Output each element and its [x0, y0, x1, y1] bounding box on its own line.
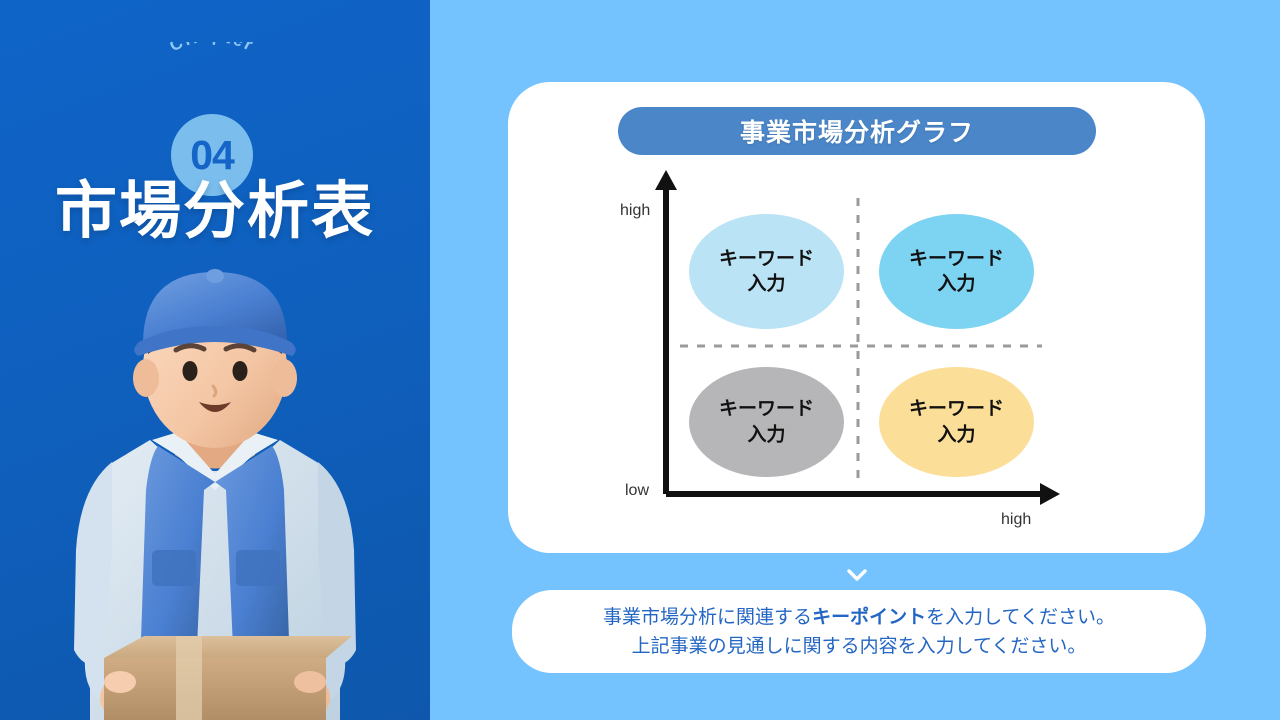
- quadrant-bubble-label-line2: 入力: [689, 272, 844, 298]
- caption-line-1-after: を入力してください。: [926, 606, 1115, 628]
- caption-line-1-before: 事業市場分析に関連する: [603, 606, 812, 628]
- quadrant-chart-axes: [508, 82, 1205, 553]
- caption-box: 事業市場分析に関連するキーポイントを入力してください。 上記事業の見通しに関する…: [512, 590, 1206, 673]
- quadrant-bubble-label-line2: 入力: [879, 272, 1034, 298]
- caption-keyword-strong: キーポイント: [812, 606, 926, 628]
- slide-root: CHapter 04 市場分析表: [0, 0, 1280, 720]
- y-axis-high-label: high: [620, 202, 650, 220]
- page-title: 市場分析表: [0, 160, 430, 250]
- quadrant-bubble-top-left[interactable]: キーワード 入力: [689, 214, 844, 329]
- y-axis-low-label: low: [625, 482, 649, 500]
- quadrant-bubble-label-line1: キーワード: [689, 246, 844, 272]
- quadrant-bubble-label: キーワード 入力: [689, 246, 844, 297]
- connector-badge: [838, 556, 876, 594]
- chevron-down-icon: [847, 569, 867, 582]
- quadrant-bubble-label-line1: キーワード: [689, 396, 844, 422]
- quadrant-bubble-label: キーワード 入力: [879, 246, 1034, 297]
- chapter-kicker-arc: CHapter: [127, 42, 297, 102]
- x-axis-high-label: high: [1001, 511, 1031, 529]
- quadrant-bubble-label: キーワード 入力: [689, 396, 844, 447]
- quadrant-bubble-label-line1: キーワード: [879, 246, 1034, 272]
- quadrant-bubble-label-line2: 入力: [689, 422, 844, 448]
- chapter-kicker-text: CHapter: [167, 42, 258, 55]
- quadrant-bubble-bottom-left[interactable]: キーワード 入力: [689, 367, 844, 477]
- quadrant-bubble-label-line1: キーワード: [879, 396, 1034, 422]
- delivery-worker-illustration: [0, 250, 430, 720]
- quadrant-bubble-label: キーワード 入力: [879, 396, 1034, 447]
- quadrant-bubble-bottom-right[interactable]: キーワード 入力: [879, 367, 1034, 477]
- svg-text:CHapter: CHapter: [167, 42, 258, 55]
- caption-line-1: 事業市場分析に関連するキーポイントを入力してください。: [603, 603, 1115, 632]
- quadrant-bubble-label-line2: 入力: [879, 422, 1034, 448]
- caption-line-2: 上記事業の見通しに関する内容を入力してください。: [632, 632, 1087, 661]
- quadrant-bubble-top-right[interactable]: キーワード 入力: [879, 214, 1034, 329]
- left-title-panel: CHapter 04 市場分析表: [0, 0, 430, 720]
